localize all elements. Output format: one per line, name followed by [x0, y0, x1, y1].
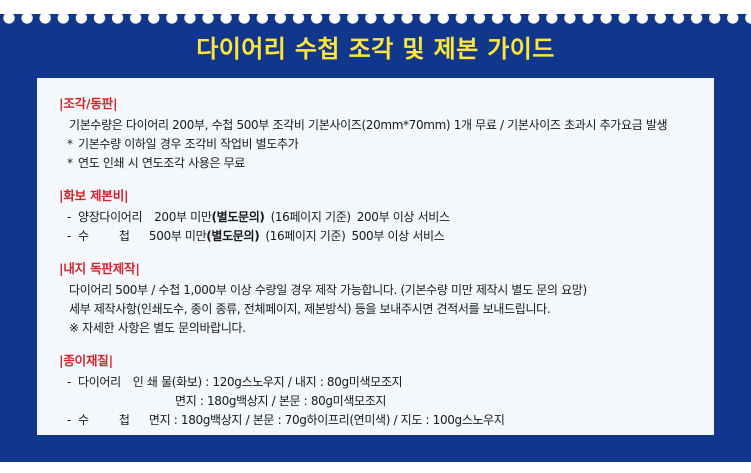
heading-close-pipe: |: [109, 353, 113, 368]
section-heading-engraving: |조각/동판|: [59, 94, 714, 113]
line-text: 면지 : 180g백상지 / 본문 : 70g하이프리(연미색) / 지도 : …: [149, 413, 505, 427]
section-body-engraving: 기본수량은 다이어리 200부, 수첩 500부 조각비 기본사이즈(20mm*…: [59, 116, 714, 173]
bullet-dash: -: [67, 373, 78, 392]
section-photobook-binding: |화보 제본비| -양장다이어리200부 미만(별도문의)(16페이지 기준)2…: [37, 186, 714, 246]
list-item: 면지 : 180g백상지 / 본문 : 80g미색모조지: [59, 392, 714, 411]
item-label: 양장다이어리: [78, 210, 142, 224]
line-text: ※ 자세한 사항은 별도 문의바랍니다.: [69, 321, 246, 335]
bullet-dash: -: [67, 208, 78, 227]
list-item: -수 첩면지 : 180g백상지 / 본문 : 70g하이프리(연미색) / 지…: [59, 411, 714, 430]
section-body-photobook-binding: -양장다이어리200부 미만(별도문의)(16페이지 기준)200부 이상 서비…: [59, 208, 714, 246]
list-item: -다이어리인 쇄 물(화보) : 120g스노우지 / 내지 : 80g미색모조…: [59, 373, 714, 392]
item-label: 다이어리: [78, 375, 121, 389]
line-text: 다이어리 500부 / 수첩 1,000부 이상 수량일 경우 제작 가능합니다…: [69, 283, 587, 297]
section-engraving: |조각/동판| 기본수량은 다이어리 200부, 수첩 500부 조각비 기본사…: [37, 94, 714, 173]
line-text: 면지 : 180g백상지 / 본문 : 80g미색모조지: [175, 394, 386, 408]
line-text: 인 쇄 물(화보) : 120g스노우지 / 내지 : 80g미색모조지: [133, 375, 402, 389]
guide-page: 다이어리 수첩 조각 및 제본 가이드 |조각/동판| 기본수량은 다이어리 2…: [0, 0, 751, 473]
heading-close-pipe: |: [135, 261, 139, 276]
bullet-asterisk: *: [67, 154, 78, 173]
item-quantity: 200부 미만: [154, 210, 211, 224]
section-heading-inner-exclusive-production: |내지 독판제작|: [59, 259, 714, 278]
item-service: 500부 이상 서비스: [351, 229, 444, 243]
list-item: 세부 제작사항(인쇄도수, 종이 종류, 전체페이지, 제본방식) 등을 보내주…: [59, 300, 714, 319]
heading-label: 종이재질: [63, 353, 108, 368]
list-item: -양장다이어리200부 미만(별도문의)(16페이지 기준)200부 이상 서비…: [59, 208, 714, 227]
list-item: 기본수량은 다이어리 200부, 수첩 500부 조각비 기본사이즈(20mm*…: [59, 116, 714, 135]
list-item: *연도 인쇄 시 연도조각 사용은 무료: [59, 154, 714, 173]
item-label: 수 첩: [78, 229, 143, 243]
item-note: (별도문의): [212, 210, 265, 224]
item-quantity: 500부 미만: [149, 229, 206, 243]
item-basis: (16페이지 기준): [265, 229, 345, 243]
line-text: 세부 제작사항(인쇄도수, 종이 종류, 전체페이지, 제본방식) 등을 보내주…: [69, 302, 550, 316]
item-basis: (16페이지 기준): [271, 210, 351, 224]
item-service: 200부 이상 서비스: [357, 210, 450, 224]
bullet-dash: -: [67, 411, 78, 430]
section-heading-photobook-binding: |화보 제본비|: [59, 186, 714, 205]
item-note: (별도문의): [206, 229, 259, 243]
heading-label: 화보 제본비: [63, 188, 124, 203]
list-item: ※ 자세한 사항은 별도 문의바랍니다.: [59, 319, 714, 338]
page-title-bar: 다이어리 수첩 조각 및 제본 가이드: [0, 34, 751, 64]
heading-label: 조각/동판: [63, 96, 113, 111]
section-body-paper-material: -다이어리인 쇄 물(화보) : 120g스노우지 / 내지 : 80g미색모조…: [59, 373, 714, 430]
scalloped-edge-decoration: [0, 12, 751, 26]
list-item: *기본수량 이하일 경우 조각비 작업비 별도추가: [59, 135, 714, 154]
bullet-asterisk: *: [67, 135, 78, 154]
section-paper-material: |종이재질| -다이어리인 쇄 물(화보) : 120g스노우지 / 내지 : …: [37, 351, 714, 430]
section-body-inner-exclusive-production: 다이어리 500부 / 수첩 1,000부 이상 수량일 경우 제작 가능합니다…: [59, 281, 714, 338]
line-text: 기본수량 이하일 경우 조각비 작업비 별도추가: [78, 137, 298, 151]
section-inner-exclusive-production: |내지 독판제작| 다이어리 500부 / 수첩 1,000부 이상 수량일 경…: [37, 259, 714, 338]
line-text: 연도 인쇄 시 연도조각 사용은 무료: [78, 156, 245, 170]
list-item: 다이어리 500부 / 수첩 1,000부 이상 수량일 경우 제작 가능합니다…: [59, 281, 714, 300]
line-text: 기본수량은 다이어리 200부, 수첩 500부 조각비 기본사이즈(20mm*…: [69, 118, 667, 132]
bottom-white-strip: [0, 462, 751, 473]
list-item: -수 첩500부 미만(별도문의)(16페이지 기준)500부 이상 서비스: [59, 227, 714, 246]
guide-content-card: |조각/동판| 기본수량은 다이어리 200부, 수첩 500부 조각비 기본사…: [37, 78, 714, 435]
bullet-dash: -: [67, 227, 78, 246]
heading-close-pipe: |: [113, 96, 117, 111]
item-label: 수 첩: [78, 413, 143, 427]
page-title: 다이어리 수첩 조각 및 제본 가이드: [196, 34, 555, 64]
heading-label: 내지 독판제작: [63, 261, 135, 276]
section-heading-paper-material: |종이재질|: [59, 351, 714, 370]
heading-close-pipe: |: [124, 188, 128, 203]
